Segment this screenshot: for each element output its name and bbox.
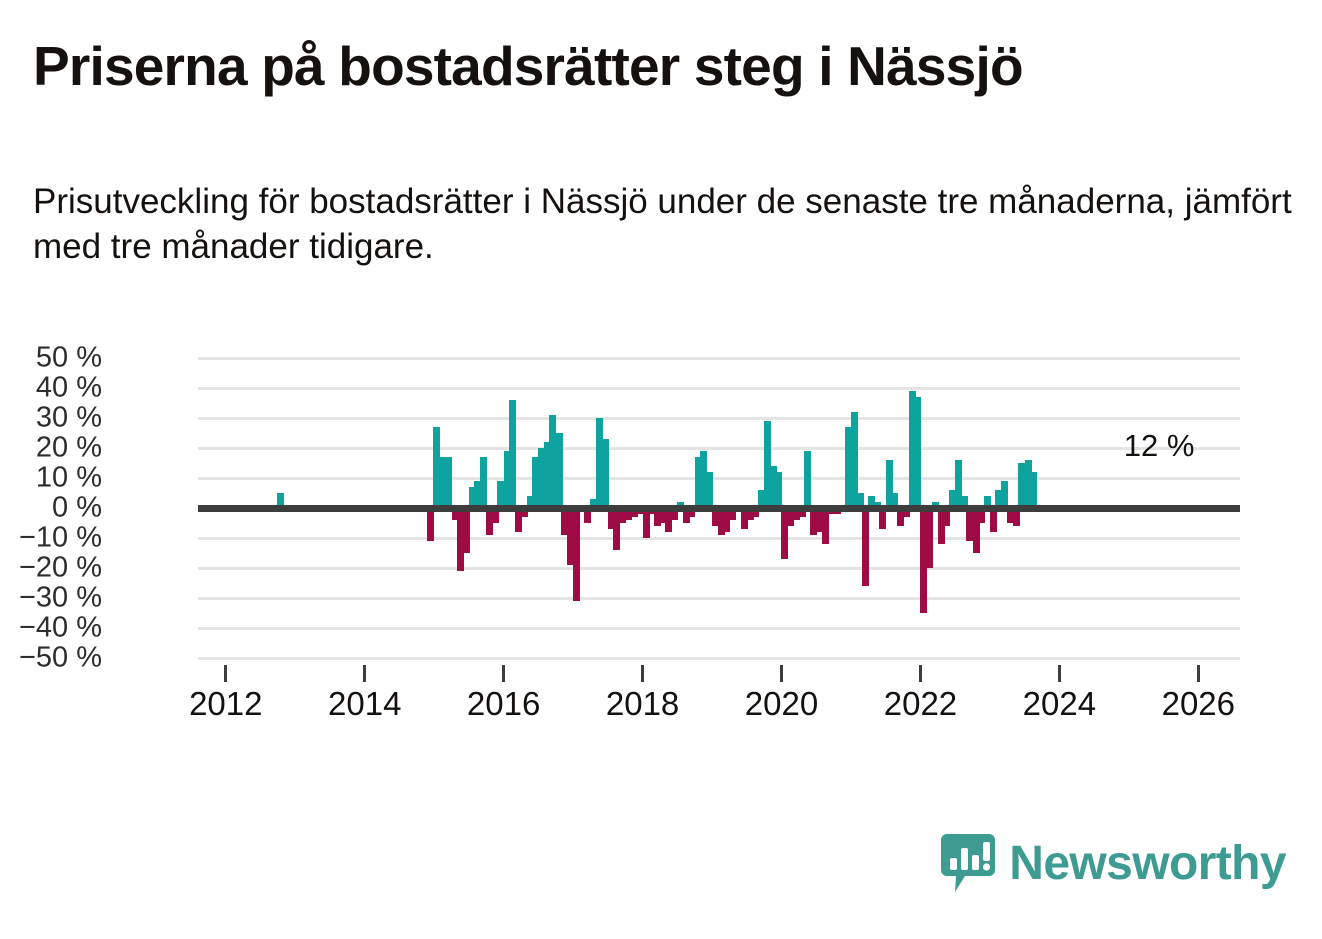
x-axis-tick-label: 2016 xyxy=(467,685,540,723)
x-axis-tick-label: 2026 xyxy=(1162,685,1235,723)
x-axis-tick-label: 2020 xyxy=(745,685,818,723)
y-axis-tick-label: −20 % xyxy=(19,552,102,585)
gridline xyxy=(198,477,1240,480)
x-axis-tick xyxy=(1058,665,1061,682)
x-axis-tick-label: 2022 xyxy=(884,685,957,723)
x-axis-tick xyxy=(641,665,644,682)
bar xyxy=(926,508,933,568)
bar xyxy=(509,400,516,508)
x-axis-tick-label: 2024 xyxy=(1023,685,1096,723)
y-axis-tick-label: −40 % xyxy=(19,612,102,645)
gridline xyxy=(198,657,1240,660)
x-axis-tick xyxy=(780,665,783,682)
bar xyxy=(804,451,811,508)
bar xyxy=(480,457,487,508)
gridline xyxy=(198,447,1240,450)
bar-chart-speech-bubble-icon xyxy=(941,834,995,894)
x-axis-tick xyxy=(919,665,922,682)
gridline xyxy=(198,417,1240,420)
plot-area: 50 %40 %30 %20 %10 %0 %−10 %−20 %−30 %−4… xyxy=(198,358,1240,658)
y-axis-tick-label: 10 % xyxy=(36,462,102,495)
bar xyxy=(427,508,434,541)
y-axis-tick-label: 0 % xyxy=(52,492,102,525)
bar xyxy=(1030,472,1037,508)
bar xyxy=(862,508,869,586)
bar xyxy=(463,508,470,553)
gridline xyxy=(198,567,1240,570)
bar-chart: 50 %40 %30 %20 %10 %0 %−10 %−20 %−30 %−4… xyxy=(0,340,1322,740)
x-axis-tick-label: 2018 xyxy=(606,685,679,723)
x-axis-tick xyxy=(224,665,227,682)
y-axis-tick-label: −10 % xyxy=(19,522,102,555)
bar xyxy=(990,508,997,532)
gridline xyxy=(198,387,1240,390)
y-axis-tick-label: −30 % xyxy=(19,582,102,615)
x-axis-tick-label: 2012 xyxy=(189,685,262,723)
y-axis-tick-label: −50 % xyxy=(19,642,102,675)
y-axis-tick-label: 30 % xyxy=(36,402,102,435)
gridline xyxy=(198,357,1240,360)
gridline xyxy=(198,627,1240,630)
x-axis-tick xyxy=(363,665,366,682)
value-annotation: 12 % xyxy=(1124,428,1195,464)
page-title: Priserna på bostadsrätter steg i Nässjö xyxy=(33,34,1023,98)
y-axis-tick-label: 20 % xyxy=(36,432,102,465)
x-axis: 20122014201620182020202220242026 xyxy=(198,665,1240,735)
page-subtitle: Prisutveckling för bostadsrätter i Nässj… xyxy=(33,180,1293,270)
bar xyxy=(775,472,782,508)
newsworthy-logo: Newsworthy xyxy=(941,834,1286,894)
bar xyxy=(602,439,609,508)
logo-wordmark: Newsworthy xyxy=(1009,840,1286,888)
gridline xyxy=(198,537,1240,540)
bar xyxy=(445,457,452,508)
bar xyxy=(706,472,713,508)
bar xyxy=(556,433,563,508)
y-axis-tick-label: 40 % xyxy=(36,372,102,405)
gridline xyxy=(198,597,1240,600)
zero-line xyxy=(198,505,1240,512)
bar xyxy=(573,508,580,601)
x-axis-tick xyxy=(502,665,505,682)
x-axis-tick-label: 2014 xyxy=(328,685,401,723)
chart-page: Priserna på bostadsrätter steg i Nässjö … xyxy=(0,0,1322,939)
x-axis-tick xyxy=(1197,665,1200,682)
bar xyxy=(914,397,921,508)
y-axis-tick-label: 50 % xyxy=(36,342,102,375)
